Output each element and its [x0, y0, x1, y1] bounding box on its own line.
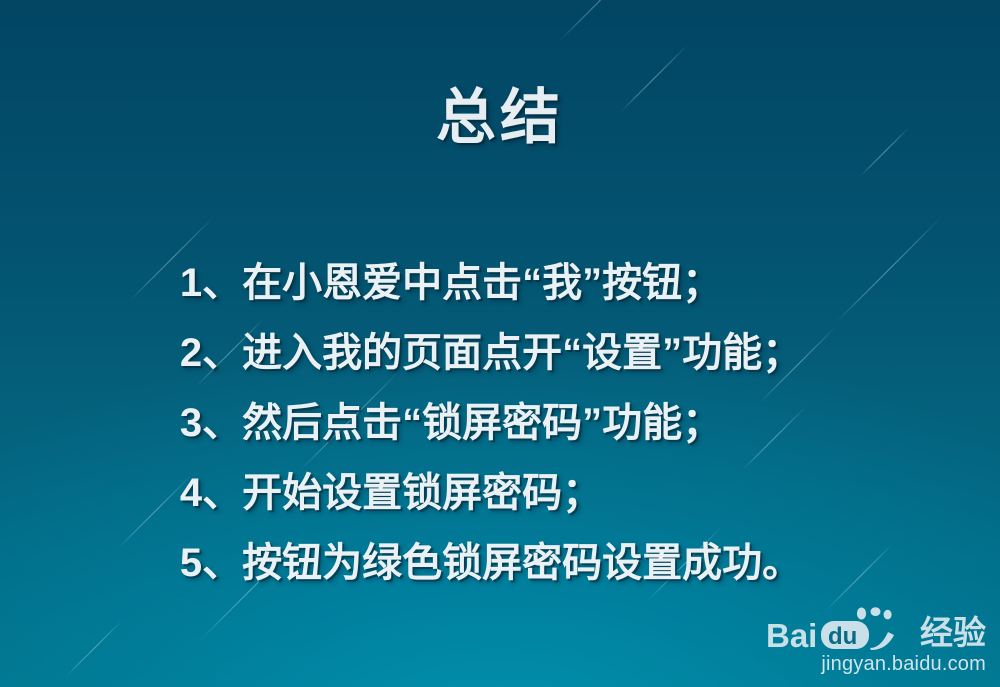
decorative-streak	[66, 620, 123, 677]
watermark-url: jingyan.baidu.com	[766, 653, 986, 675]
watermark-logo-row: Bai du 经验	[766, 609, 986, 651]
list-item: 4、开始设置锁屏密码；	[180, 458, 802, 528]
list-item: 1、在小恩爱中点击“我”按钮；	[180, 248, 802, 318]
baidu-jingyan-watermark: Bai du 经验 jingyan.baidu.com	[766, 609, 986, 675]
slide-body-container: 1、在小恩爱中点击“我”按钮； 2、进入我的页面点开“设置”功能； 3、然后点击…	[0, 248, 1000, 598]
baidu-logo-icon: Bai du	[766, 607, 916, 651]
presentation-slide: 总结 1、在小恩爱中点击“我”按钮； 2、进入我的页面点开“设置”功能； 3、然…	[0, 0, 1000, 687]
slide-title-container: 总结	[0, 86, 1000, 151]
list-item: 5、按钮为绿色锁屏密码设置成功。	[180, 528, 802, 598]
svg-text:Bai: Bai	[766, 617, 817, 651]
decorative-streak	[560, 0, 646, 41]
list-item: 2、进入我的页面点开“设置”功能；	[180, 318, 802, 388]
summary-step-list: 1、在小恩爱中点击“我”按钮； 2、进入我的页面点开“设置”功能； 3、然后点击…	[180, 248, 802, 598]
list-item: 3、然后点击“锁屏密码”功能；	[180, 388, 802, 458]
page-title: 总结	[436, 86, 564, 151]
watermark-brand-cn: 经验	[920, 616, 986, 650]
svg-text:du: du	[828, 623, 857, 650]
